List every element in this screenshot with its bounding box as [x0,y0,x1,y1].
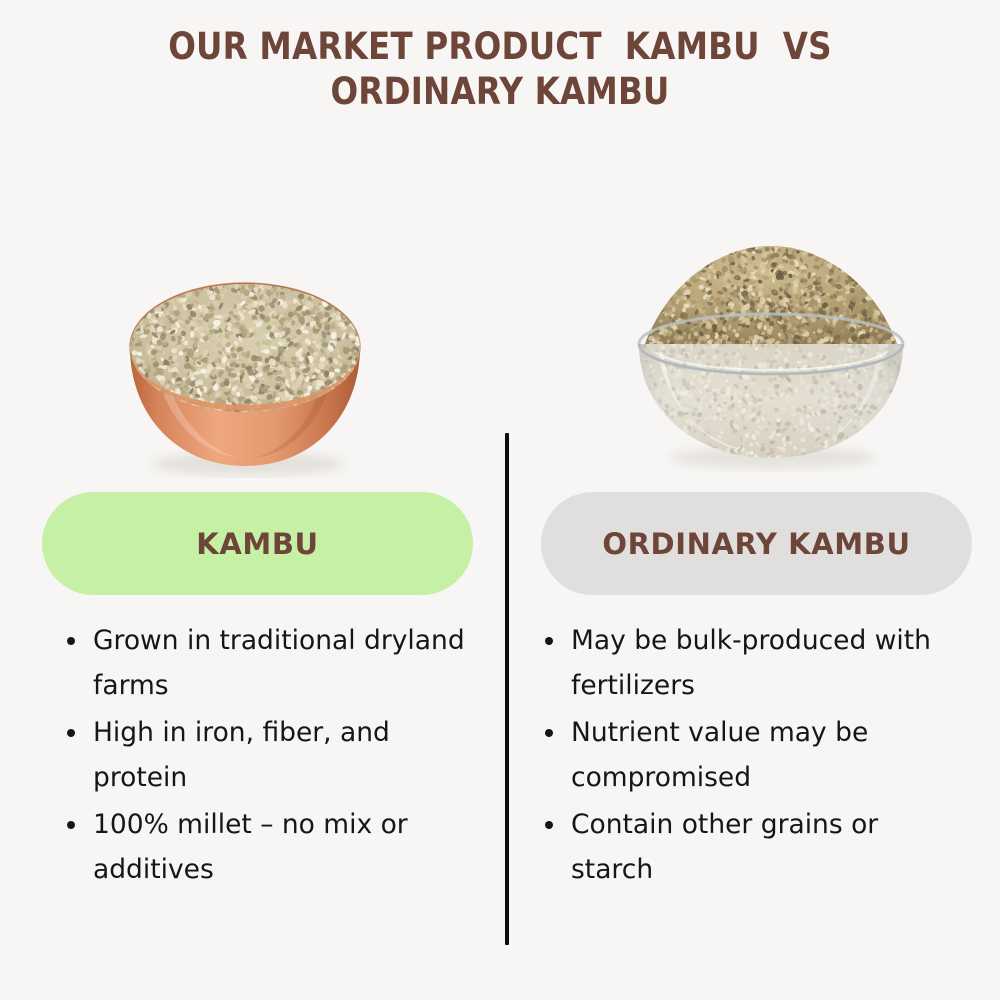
list-item-text: High in iron, fiber, and protein [93,717,390,793]
vertical-divider [505,433,509,945]
title-line-2: ORDINARY KAMBU [60,69,940,114]
bullet-dot-icon [67,729,75,737]
list-item: 100% millet – no mix or additives [62,802,474,892]
glass-bowl-image [615,232,927,472]
page-title: OUR MARKET PRODUCT KAMBU VS ORDINARY KAM… [0,24,1000,114]
bullet-dot-icon [545,637,553,645]
list-item: Nutrient value may be compromised [540,710,944,800]
list-item: High in iron, fiber, and protein [62,710,474,800]
bullet-dot-icon [545,729,553,737]
bullet-dot-icon [545,821,553,829]
ordinary-kambu-label-text: ORDINARY KAMBU [602,527,910,561]
list-item: Grown in traditional dryland farms [62,618,474,708]
terracotta-bowl-image [118,228,372,478]
list-item-text: May be bulk-produced with fertilizers [571,625,931,701]
ordinary-kambu-label-pill[interactable]: ORDINARY KAMBU [541,492,972,595]
ordinary-kambu-drawbacks-list: May be bulk-produced with fertilizers Nu… [540,618,944,894]
kambu-label-text: KAMBU [196,527,318,561]
kambu-label-pill[interactable]: KAMBU [42,492,473,595]
list-item-text: Grown in traditional dryland farms [93,625,465,701]
list-item-text: 100% millet – no mix or additives [93,809,408,885]
bullet-dot-icon [67,637,75,645]
list-item-text: Nutrient value may be compromised [571,717,868,793]
kambu-benefits-list: Grown in traditional dryland farms High … [62,618,474,894]
list-item: Contain other grains or starch [540,802,944,892]
title-line-1: OUR MARKET PRODUCT KAMBU VS [60,24,940,69]
list-item: May be bulk-produced with fertilizers [540,618,944,708]
infographic-canvas: OUR MARKET PRODUCT KAMBU VS ORDINARY KAM… [0,0,1000,1000]
bullet-dot-icon [67,821,75,829]
list-item-text: Contain other grains or starch [571,809,878,885]
